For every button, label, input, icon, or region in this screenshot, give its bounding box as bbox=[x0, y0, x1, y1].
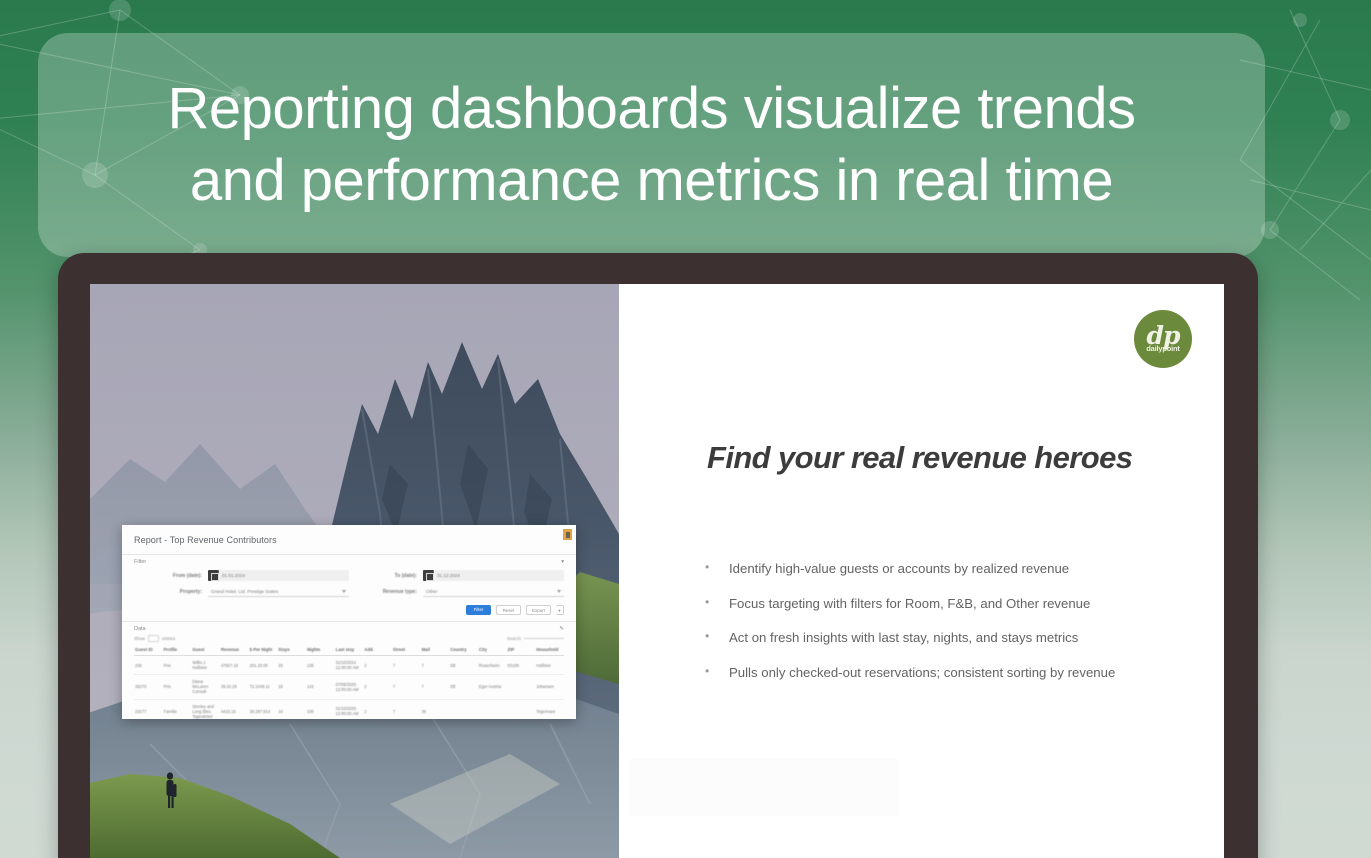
cell-r2-c12 bbox=[478, 699, 507, 719]
report-table-wrapper: Guest IDProfileGuestRevenue$ Per NightSt… bbox=[122, 644, 576, 719]
bookmark-flag-icon[interactable] bbox=[563, 529, 572, 540]
table-header-row: Guest IDProfileGuestRevenue$ Per NightSt… bbox=[134, 644, 564, 656]
revenue-type-field: Revenue type: Other bbox=[349, 587, 564, 597]
revenue-type-select[interactable]: Other bbox=[423, 587, 564, 597]
cell-r1-c5: 18 bbox=[277, 675, 306, 699]
column-header-9[interactable]: Street bbox=[392, 644, 421, 656]
cell-r0-c0: 236 bbox=[134, 656, 163, 675]
tablet-screen: Report - Top Revenue Contributors Filter… bbox=[90, 284, 1224, 858]
show-entries-control[interactable]: Show entries bbox=[134, 635, 175, 642]
headline-line-1: Reporting dashboards visualize trends bbox=[167, 79, 1135, 139]
table-body: 236Priv.Willis J. Hollister47557.18201.2… bbox=[134, 656, 564, 720]
column-header-2[interactable]: Guest bbox=[191, 644, 220, 656]
cell-r0-c12: Rosenheim bbox=[478, 656, 507, 675]
cell-r2-c7: 31/10/2025 12:00:00 AM bbox=[335, 699, 364, 719]
cell-r0-c10: 7 bbox=[421, 656, 450, 675]
filter-section-header[interactable]: Filter ▾ bbox=[122, 555, 576, 567]
column-header-1[interactable]: Profile bbox=[163, 644, 192, 656]
cell-r2-c1: Familie bbox=[163, 699, 192, 719]
column-header-12[interactable]: City bbox=[478, 644, 507, 656]
cell-r2-c6: 100 bbox=[306, 699, 335, 719]
cell-r2-c2: Stonley and Long Bleu Tagestickel bbox=[191, 699, 220, 719]
filter-row-dates: From (date): 01.01.2024 To (date): 31.12… bbox=[134, 570, 564, 581]
cell-r2-c0: 23277 bbox=[134, 699, 163, 719]
filter-body: From (date): 01.01.2024 To (date): 31.12… bbox=[122, 567, 576, 597]
cell-r0-c2: Willis J. Hollister bbox=[191, 656, 220, 675]
slide-bullet-2: Focus targeting with filters for Room, F… bbox=[701, 595, 1171, 614]
cell-r1-c6: 142 bbox=[306, 675, 335, 699]
cell-r1-c10: 7 bbox=[421, 675, 450, 699]
cell-r1-c3: 39.32.25 bbox=[220, 675, 249, 699]
column-header-14[interactable]: Household bbox=[535, 644, 564, 656]
cell-r2-c3: 4415.15 bbox=[220, 699, 249, 719]
chevron-down-icon bbox=[342, 590, 346, 593]
column-header-0[interactable]: Guest ID bbox=[134, 644, 163, 656]
cell-r2-c9: 7 bbox=[392, 699, 421, 719]
property-field: Property: Grand Hotel, Ltd. Prestige Sui… bbox=[134, 587, 349, 597]
export-dropdown-caret-icon[interactable]: ▾ bbox=[556, 605, 564, 615]
slide-bullet-3: Act on fresh insights with last stay, ni… bbox=[701, 629, 1171, 648]
cell-r1-c11: DE bbox=[449, 675, 478, 699]
logo-wordmark: dailypoint bbox=[1146, 344, 1179, 353]
entries-label: entries bbox=[162, 636, 175, 641]
headline-banner: Reporting dashboards visualize trends an… bbox=[38, 33, 1265, 257]
cell-r1-c2: Diana McLaren Consult bbox=[191, 675, 220, 699]
logo-monogram: dp bbox=[1147, 325, 1180, 346]
from-date-field: From (date): 01.01.2024 bbox=[134, 570, 349, 581]
report-window[interactable]: Report - Top Revenue Contributors Filter… bbox=[122, 525, 576, 719]
cell-r1-c12: Eger Austria bbox=[478, 675, 507, 699]
column-header-10[interactable]: Mail bbox=[421, 644, 450, 656]
search-label: Search: bbox=[507, 636, 522, 641]
table-row[interactable]: 236Priv.Willis J. Hollister47557.18201.2… bbox=[134, 656, 564, 675]
table-row[interactable]: 23277FamilieStonley and Long Bleu Tagest… bbox=[134, 699, 564, 719]
slide-bullet-1: Identify high-value guests or accounts b… bbox=[701, 560, 1171, 579]
data-section-label: Data bbox=[134, 626, 146, 632]
table-row[interactable]: 38270Priv.Diana McLaren Consult39.32.257… bbox=[134, 675, 564, 699]
cell-r2-c14: Tegernsee bbox=[535, 699, 564, 719]
table-toolbar: Show entries Search: bbox=[122, 634, 576, 644]
cell-r1-c1: Priv. bbox=[163, 675, 192, 699]
column-header-13[interactable]: ZIP bbox=[507, 644, 536, 656]
cell-r1-c8: 2 bbox=[363, 675, 392, 699]
cell-r0-c14: Hollister bbox=[535, 656, 564, 675]
cell-r1-c13 bbox=[507, 675, 536, 699]
cell-r0-c5: 29 bbox=[277, 656, 306, 675]
cell-r1-c4: 72.1048.11 bbox=[249, 675, 278, 699]
cell-r0-c3: 47557.18 bbox=[220, 656, 249, 675]
slide-bullet-4: Pulls only checked-out reservations; con… bbox=[701, 664, 1171, 683]
column-header-5[interactable]: Stays bbox=[277, 644, 306, 656]
revenue-type-value: Other bbox=[426, 589, 438, 594]
cell-r2-c13 bbox=[507, 699, 536, 719]
show-label: Show bbox=[134, 636, 145, 641]
calendar-icon[interactable] bbox=[208, 570, 219, 581]
to-date-input[interactable]: 31.12.2024 bbox=[434, 570, 564, 581]
data-section-header[interactable]: Data ✎ bbox=[122, 622, 576, 634]
revenue-type-label: Revenue type: bbox=[349, 589, 423, 595]
cell-r1-c14: Johansen bbox=[535, 675, 564, 699]
entries-count-select[interactable] bbox=[148, 635, 159, 642]
from-date-input[interactable]: 01.01.2024 bbox=[219, 570, 349, 581]
cell-r2-c4: 38.287.914 bbox=[249, 699, 278, 719]
report-title: Report - Top Revenue Contributors bbox=[122, 525, 576, 554]
slide-bullet-list: Identify high-value guests or accounts b… bbox=[701, 560, 1171, 699]
filter-row-selects: Property: Grand Hotel, Ltd. Prestige Sui… bbox=[134, 587, 564, 597]
slide-title: Find your real revenue heroes bbox=[707, 440, 1157, 475]
presentation-slide: dp dailypoint Find your real revenue her… bbox=[619, 284, 1224, 858]
chevron-down-icon bbox=[557, 590, 561, 593]
cell-r0-c7: 31/10/2024 12:00:00 AM bbox=[335, 656, 364, 675]
cell-r0-c1: Priv. bbox=[163, 656, 192, 675]
mountain-photo: Report - Top Revenue Contributors Filter… bbox=[90, 284, 619, 858]
column-header-6[interactable]: Nights bbox=[306, 644, 335, 656]
dailypoint-logo: dp dailypoint bbox=[1134, 310, 1192, 368]
to-date-field: To (date): 31.12.2024 bbox=[349, 570, 564, 581]
column-header-8[interactable]: Add. bbox=[363, 644, 392, 656]
cell-r0-c6: 235 bbox=[306, 656, 335, 675]
column-header-3[interactable]: Revenue bbox=[220, 644, 249, 656]
calendar-icon[interactable] bbox=[423, 570, 434, 581]
filter-section-label: Filter bbox=[134, 559, 146, 565]
cell-r2-c8: 2 bbox=[363, 699, 392, 719]
cell-r2-c5: 16 bbox=[277, 699, 306, 719]
to-date-label: To (date): bbox=[349, 573, 423, 579]
table-search[interactable]: Search: bbox=[507, 636, 564, 641]
slide-watermark bbox=[629, 758, 899, 816]
cell-r0-c9: 7 bbox=[392, 656, 421, 675]
filter-collapse-icon[interactable]: ▾ bbox=[561, 559, 564, 565]
filter-actions: Filter Reset Export ▾ bbox=[122, 603, 576, 621]
cell-r0-c11: DE bbox=[449, 656, 478, 675]
cell-r1-c0: 38270 bbox=[134, 675, 163, 699]
export-button[interactable]: Export bbox=[526, 605, 551, 615]
table-head: Guest IDProfileGuestRevenue$ Per NightSt… bbox=[134, 644, 564, 656]
property-select[interactable]: Grand Hotel, Ltd. Prestige Suites bbox=[208, 587, 349, 597]
cell-r1-c7: 07/09/2025 12:00:00 AM bbox=[335, 675, 364, 699]
apply-filter-button[interactable]: Filter bbox=[466, 605, 491, 615]
cell-r2-c11 bbox=[449, 699, 478, 719]
property-value: Grand Hotel, Ltd. Prestige Suites bbox=[211, 589, 278, 594]
edit-columns-icon[interactable]: ✎ bbox=[559, 626, 564, 632]
cell-r0-c13: 83109 bbox=[507, 656, 536, 675]
column-header-11[interactable]: Country bbox=[449, 644, 478, 656]
cell-r1-c9: 7 bbox=[392, 675, 421, 699]
column-header-7[interactable]: Last stay bbox=[335, 644, 364, 656]
cell-r0-c4: 201.20.00 bbox=[249, 656, 278, 675]
column-header-4[interactable]: $ Per Night bbox=[249, 644, 278, 656]
headline-line-2: and performance metrics in real time bbox=[190, 151, 1113, 211]
from-date-label: From (date): bbox=[134, 573, 208, 579]
cell-r0-c8: 2 bbox=[363, 656, 392, 675]
property-label: Property: bbox=[134, 589, 208, 595]
cell-r2-c10: 36 bbox=[421, 699, 450, 719]
search-input[interactable] bbox=[524, 638, 564, 639]
report-table: Guest IDProfileGuestRevenue$ Per NightSt… bbox=[134, 644, 564, 719]
reset-filter-button[interactable]: Reset bbox=[496, 605, 521, 615]
